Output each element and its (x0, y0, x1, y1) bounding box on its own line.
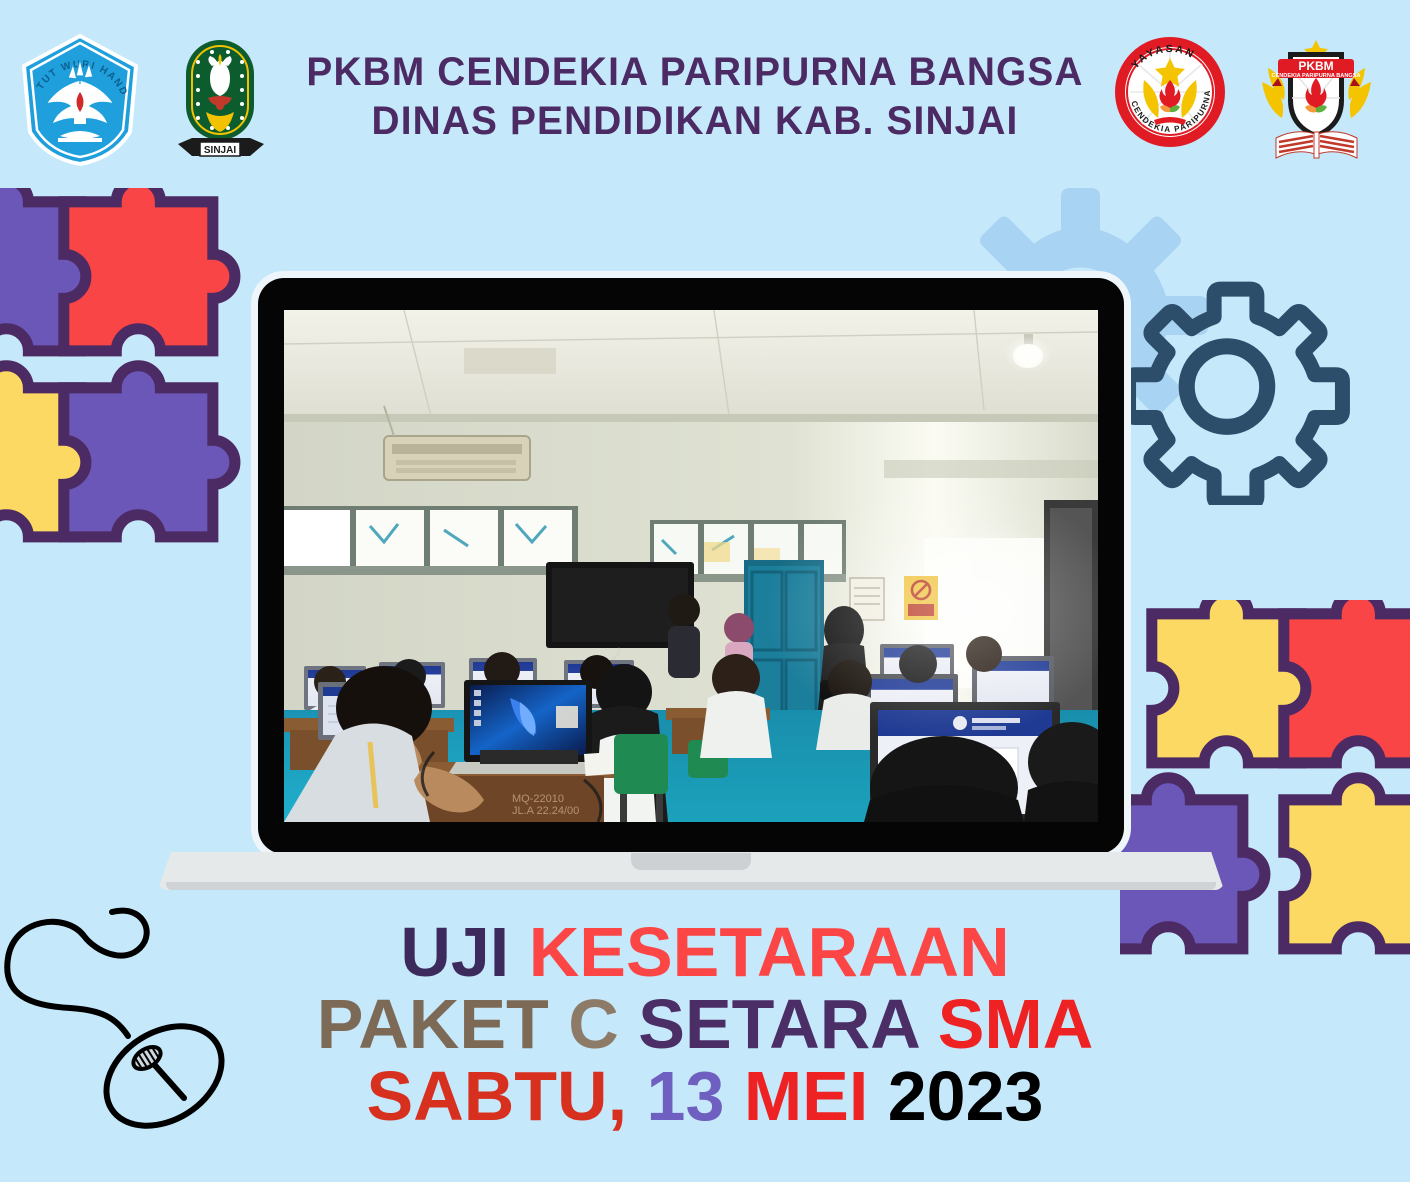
page-title: PKBM CENDEKIA PARIPURNA BANGSA DINAS PEN… (255, 48, 1135, 146)
event-title-line3: SABTU, 13 MEI 2023 (0, 1060, 1410, 1132)
word-day-number: 13 (647, 1057, 725, 1135)
laptop-lid: MQ-22010 JL.A 22.24/00 (258, 278, 1124, 854)
word-paket: PAKET (317, 985, 549, 1063)
poster-root: TUT WURI HANDAYANI (0, 0, 1410, 1182)
svg-text:PKBM: PKBM (1298, 59, 1333, 73)
svg-text:CENDEKIA PARIPURNA BANGSA: CENDEKIA PARIPURNA BANGSA (1272, 73, 1361, 79)
classroom-photo: MQ-22010 JL.A 22.24/00 (284, 310, 1098, 822)
word-setara: SETARA (638, 985, 918, 1063)
event-title-line2: PAKET C SETARA SMA (0, 988, 1410, 1060)
svg-text:MQ-22010: MQ-22010 (512, 793, 564, 805)
window-bank-left (284, 506, 578, 575)
header-title-line1: PKBM CENDEKIA PARIPURNA BANGSA (268, 48, 1122, 97)
laptop-base-shadow (166, 882, 1216, 890)
word-uji: UJI (400, 913, 509, 991)
word-c: C (568, 985, 619, 1063)
laptop-mockup: MQ-22010 JL.A 22.24/00 (258, 278, 1124, 854)
puzzle-group-left (0, 188, 260, 648)
laptop-touchpad-notch (631, 853, 751, 870)
pkbm-shield-logo: PKBM CENDEKIA PARIPURNA BANGSA (1254, 26, 1379, 164)
word-kesetaraan: KESETARAAN (529, 913, 1010, 991)
header-title-line2: DINAS PENDIDIKAN KAB. SINJAI (268, 97, 1122, 146)
word-sma: SMA (938, 985, 1094, 1063)
word-sabtu: SABTU, (367, 1057, 628, 1135)
word-year: 2023 (888, 1057, 1044, 1135)
word-mei: MEI (744, 1057, 868, 1135)
tut-wuri-handayani-logo: TUT WURI HANDAYANI (18, 32, 143, 167)
yayasan-seal-logo: YAYASAN CENDEKIA PARIPURNA BANGSA (1114, 32, 1226, 157)
event-title-line1: UJI KESETARAAN (0, 916, 1410, 988)
svg-text:JL.A 22.24/00: JL.A 22.24/00 (512, 805, 579, 817)
svg-text:SINJAI: SINJAI (204, 145, 236, 156)
standing-person (668, 594, 700, 678)
event-title: UJI KESETARAAN PAKET C SETARA SMA SABTU,… (0, 916, 1410, 1132)
poster-header: TUT WURI HANDAYANI (0, 0, 1410, 180)
gear-outline-icon (1120, 275, 1350, 505)
